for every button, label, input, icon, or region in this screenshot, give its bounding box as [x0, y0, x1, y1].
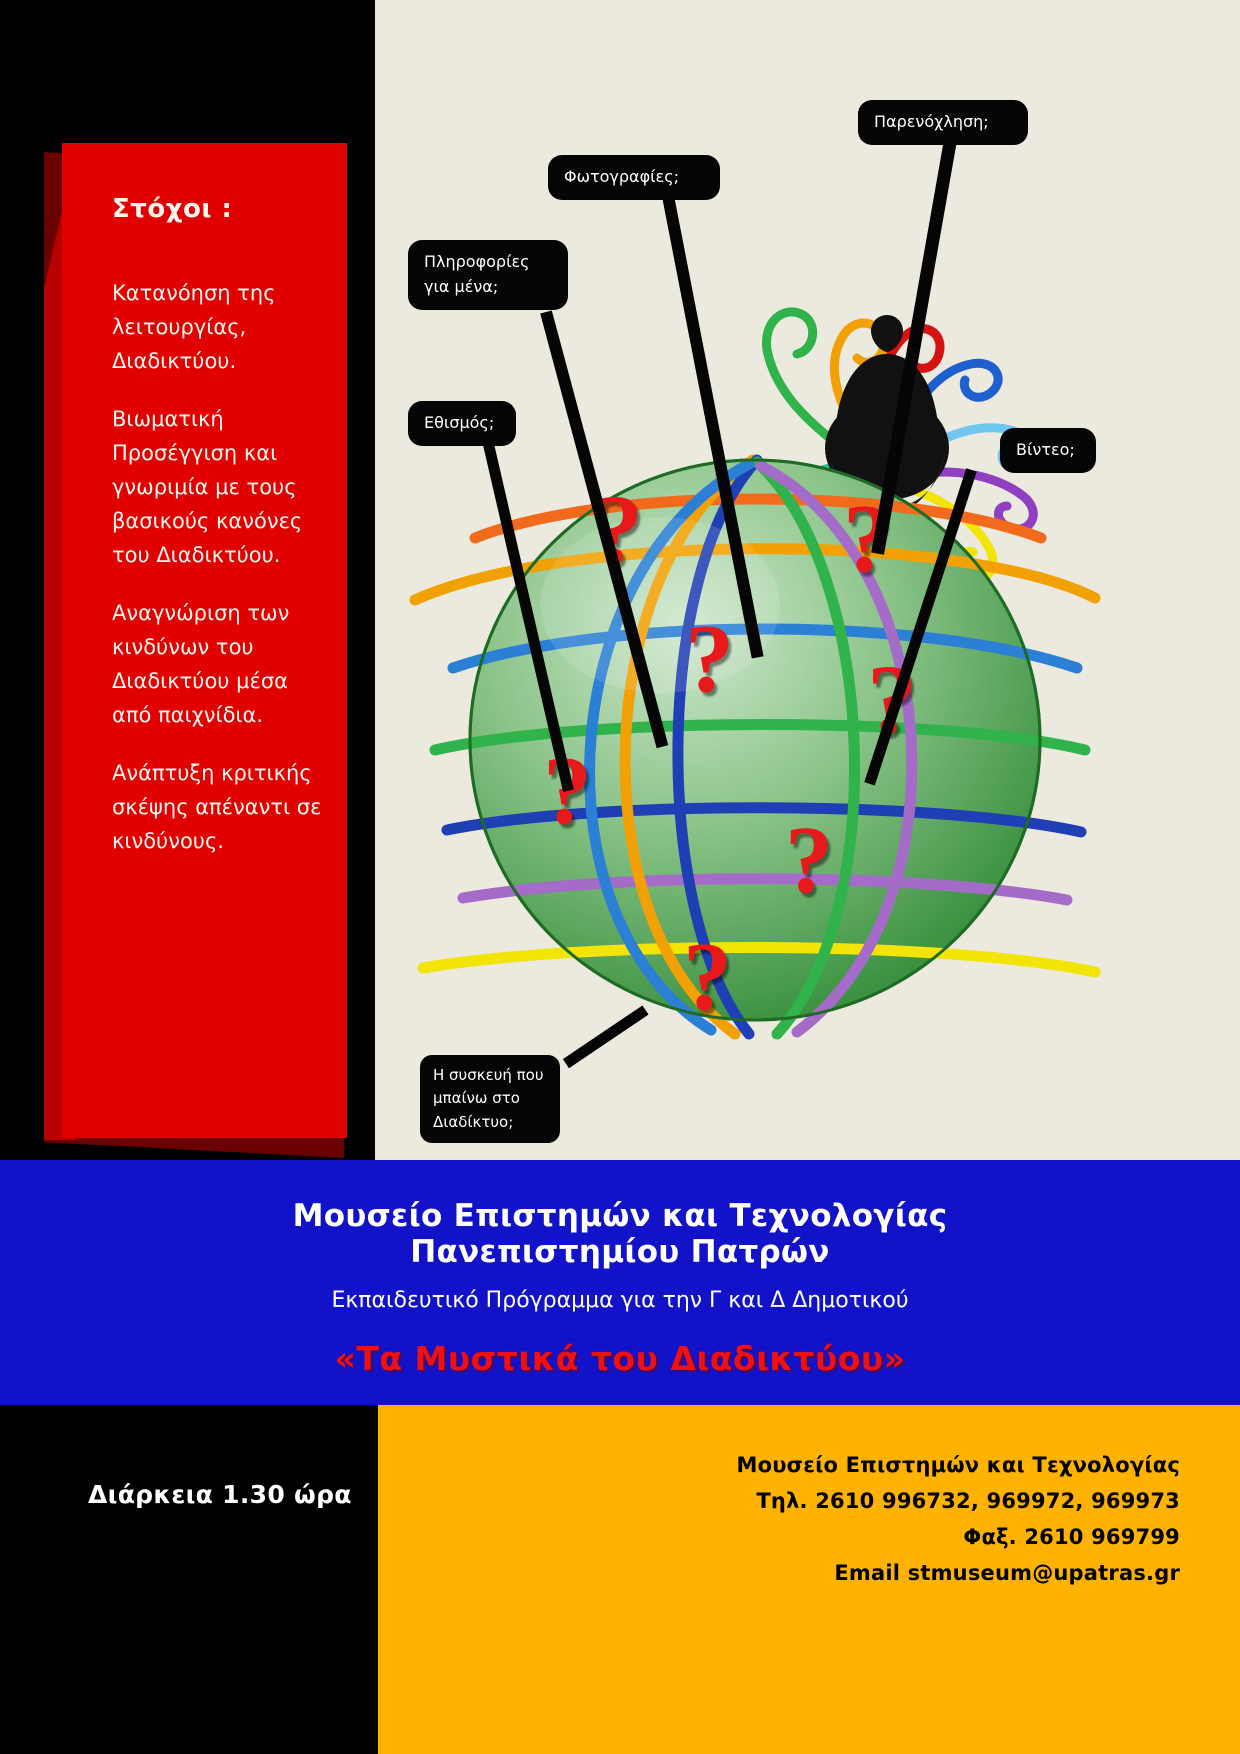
contact-line-2: Τηλ. 2610 996732, 969972, 969973: [378, 1489, 1180, 1513]
objective-item-2: Βιωματική Προσέγγιση και γνωριμία με του…: [112, 402, 323, 572]
callout-parenochlisi-text: Παρενόχληση;: [874, 112, 989, 131]
question-mark-6: ?: [785, 812, 833, 908]
callout-plirofories-text: Πληροφορίες για μένα;: [424, 252, 530, 296]
organisation-band: Μουσείο Επιστημών και Τεχνολογίας Πανεπι…: [0, 1160, 1240, 1405]
program-description: Εκπαιδευτικό Πρόγραμμα για την Γ και Δ Δ…: [0, 1288, 1240, 1313]
callout-vinteo[interactable]: Βίντεο;: [1000, 428, 1096, 473]
illustration-stage: ? ? ? ? ? ? ?: [375, 0, 1240, 1160]
question-mark-7: ?: [683, 928, 732, 1026]
objective-item-1: Κατανόηση της λειτουργίας, Διαδικτύου.: [112, 276, 323, 378]
callout-ethismos[interactable]: Εθισμός;: [408, 401, 516, 446]
callout-syskevi-text: Η συσκευή που μπαίνω στο Διαδίκτυο;: [433, 1066, 544, 1131]
contact-line-3: Φαξ. 2610 969799: [378, 1525, 1180, 1549]
callout-fotografies[interactable]: Φωτογραφίες;: [548, 155, 720, 200]
objectives-panel: Στόχοι : Κατανόηση της λειτουργίας, Διαδ…: [62, 143, 347, 1138]
objectives-heading: Στόχοι :: [112, 195, 323, 224]
callout-ethismos-text: Εθισμός;: [424, 413, 494, 432]
callout-plirofories[interactable]: Πληροφορίες για μένα;: [408, 240, 568, 310]
organisation-line-1: Μουσείο Επιστημών και Τεχνολογίας: [0, 1160, 1240, 1234]
objective-item-3: Αναγνώριση των κινδύνων του Διαδικτύου μ…: [112, 596, 323, 732]
objective-item-4: Ανάπτυξη κριτικής σκέψης απέναντι σε κιν…: [112, 756, 323, 858]
poster: ? ? ? ? ? ? ? Παρενόχληση; Φωτογραφίες; …: [0, 0, 1240, 1754]
callout-syskevi[interactable]: Η συσκευή που μπαίνω στο Διαδίκτυο;: [420, 1055, 560, 1143]
callout-fotografies-text: Φωτογραφίες;: [564, 167, 679, 186]
program-title: «Τα Μυστικά του Διαδικτύου»: [0, 1339, 1240, 1378]
duration-label: Διάρκεια 1.30 ώρα: [88, 1480, 352, 1509]
question-mark-2: ?: [685, 610, 734, 708]
contact-line-4: Email stmuseum@upatras.gr: [378, 1561, 1180, 1585]
organisation-line-2: Πανεπιστημίου Πατρών: [0, 1234, 1240, 1270]
callout-vinteo-text: Βίντεο;: [1016, 440, 1075, 459]
contact-box: Μουσείο Επιστημών και Τεχνολογίας Τηλ. 2…: [378, 1405, 1240, 1754]
callout-parenochlisi[interactable]: Παρενόχληση;: [858, 100, 1028, 145]
contact-line-1: Μουσείο Επιστημών και Τεχνολογίας: [378, 1453, 1180, 1477]
